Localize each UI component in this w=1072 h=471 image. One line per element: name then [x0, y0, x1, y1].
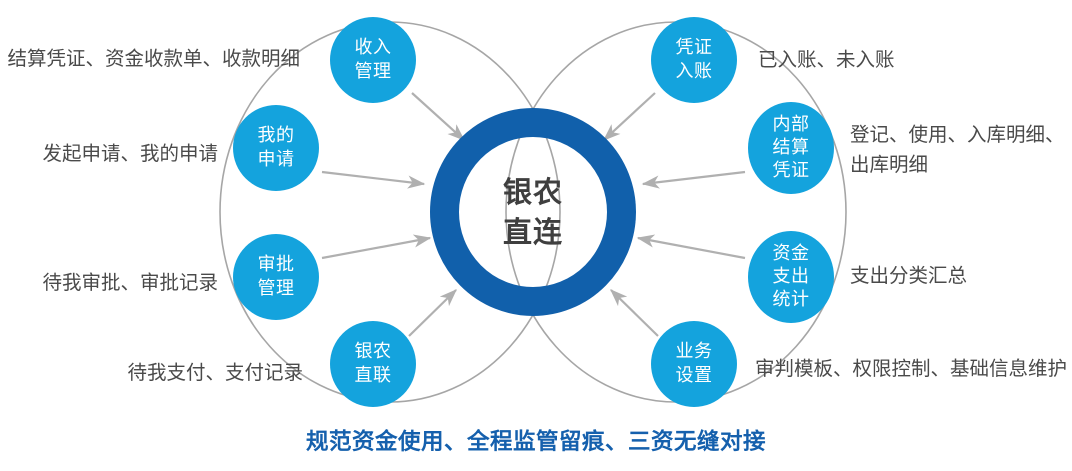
arrow-bank-direct-link [409, 290, 456, 336]
business-settings-desc: 审判模板、权限控制、基础信息维护 [755, 354, 1072, 384]
diagram-canvas: 银农直连 收入管理我的申请审批管理银农直联凭证入账内部结算凭证资金支出统计业务设… [0, 0, 1072, 471]
arrow-approval-management [322, 238, 430, 258]
node-my-application[interactable]: 我的申请 [233, 105, 319, 191]
node-label-bank-direct-link-line-2: 直联 [355, 365, 392, 385]
hub-ring: 银农直连 [445, 123, 622, 302]
internal-settlement-voucher-desc: 登记、使用、入库明细、 出库明细 [850, 120, 1072, 180]
arrow-my-application [322, 172, 424, 184]
hub-ring-shape [445, 123, 622, 302]
node-label-approval-management-line-1: 审批 [258, 254, 295, 274]
node-label-fund-expenditure-statistics-line-3: 统计 [773, 289, 810, 309]
node-label-business-settings-line-2: 设置 [676, 365, 713, 385]
node-label-business-settings-line-1: 业务 [676, 341, 713, 361]
arrow-income-management [412, 93, 464, 140]
arrow-internal-settlement-voucher [643, 172, 745, 184]
node-internal-settlement-voucher[interactable]: 内部结算凭证 [748, 102, 834, 194]
arrow-business-settings [611, 290, 658, 336]
node-label-internal-settlement-voucher-line-1: 内部 [773, 114, 810, 134]
bank-direct-link-desc: 待我支付、支付记录 [0, 358, 303, 388]
node-label-internal-settlement-voucher-line-2: 结算 [773, 137, 810, 157]
approval-management-desc: 待我审批、审批记录 [0, 268, 218, 298]
node-voucher-booking[interactable]: 凭证入账 [651, 17, 737, 103]
caption-text: 规范资金使用、全程监管留痕、三资无缝对接 [0, 424, 1072, 456]
income-management-desc: 结算凭证、资金收款单、收款明细 [0, 44, 300, 74]
orbit-circles [220, 22, 846, 402]
arrow-voucher-booking [604, 93, 655, 140]
hub-label-line-1: 银农 [503, 176, 563, 209]
fund-expenditure-statistics-desc: 支出分类汇总 [850, 261, 1072, 291]
node-approval-management[interactable]: 审批管理 [233, 234, 319, 320]
node-label-fund-expenditure-statistics-line-1: 资金 [773, 243, 810, 263]
node-label-income-management-line-2: 管理 [355, 61, 392, 81]
node-label-voucher-booking-line-1: 凭证 [676, 37, 713, 57]
node-bank-direct-link[interactable]: 银农直联 [330, 321, 416, 407]
node-label-my-application-line-2: 申请 [258, 149, 295, 169]
node-label-my-application-line-1: 我的 [258, 125, 295, 145]
hub-label-line-2: 直连 [503, 216, 563, 249]
node-label-fund-expenditure-statistics-line-2: 支出 [773, 266, 810, 286]
node-business-settings[interactable]: 业务设置 [651, 321, 737, 407]
node-label-voucher-booking-line-2: 入账 [676, 61, 713, 81]
node-label-internal-settlement-voucher-line-3: 凭证 [773, 160, 810, 180]
node-label-approval-management-line-2: 管理 [258, 278, 295, 298]
node-income-management[interactable]: 收入管理 [330, 17, 416, 103]
arrow-fund-expenditure-statistics [638, 238, 745, 258]
node-circles[interactable]: 收入管理我的申请审批管理银农直联凭证入账内部结算凭证资金支出统计业务设置 [233, 17, 834, 407]
node-label-bank-direct-link-line-1: 银农 [355, 341, 392, 361]
node-label-income-management-line-1: 收入 [355, 37, 392, 57]
my-application-desc: 发起申请、我的申请 [0, 139, 218, 169]
node-fund-expenditure-statistics[interactable]: 资金支出统计 [748, 231, 834, 323]
voucher-booking-desc: 已入账、未入账 [758, 45, 1058, 75]
